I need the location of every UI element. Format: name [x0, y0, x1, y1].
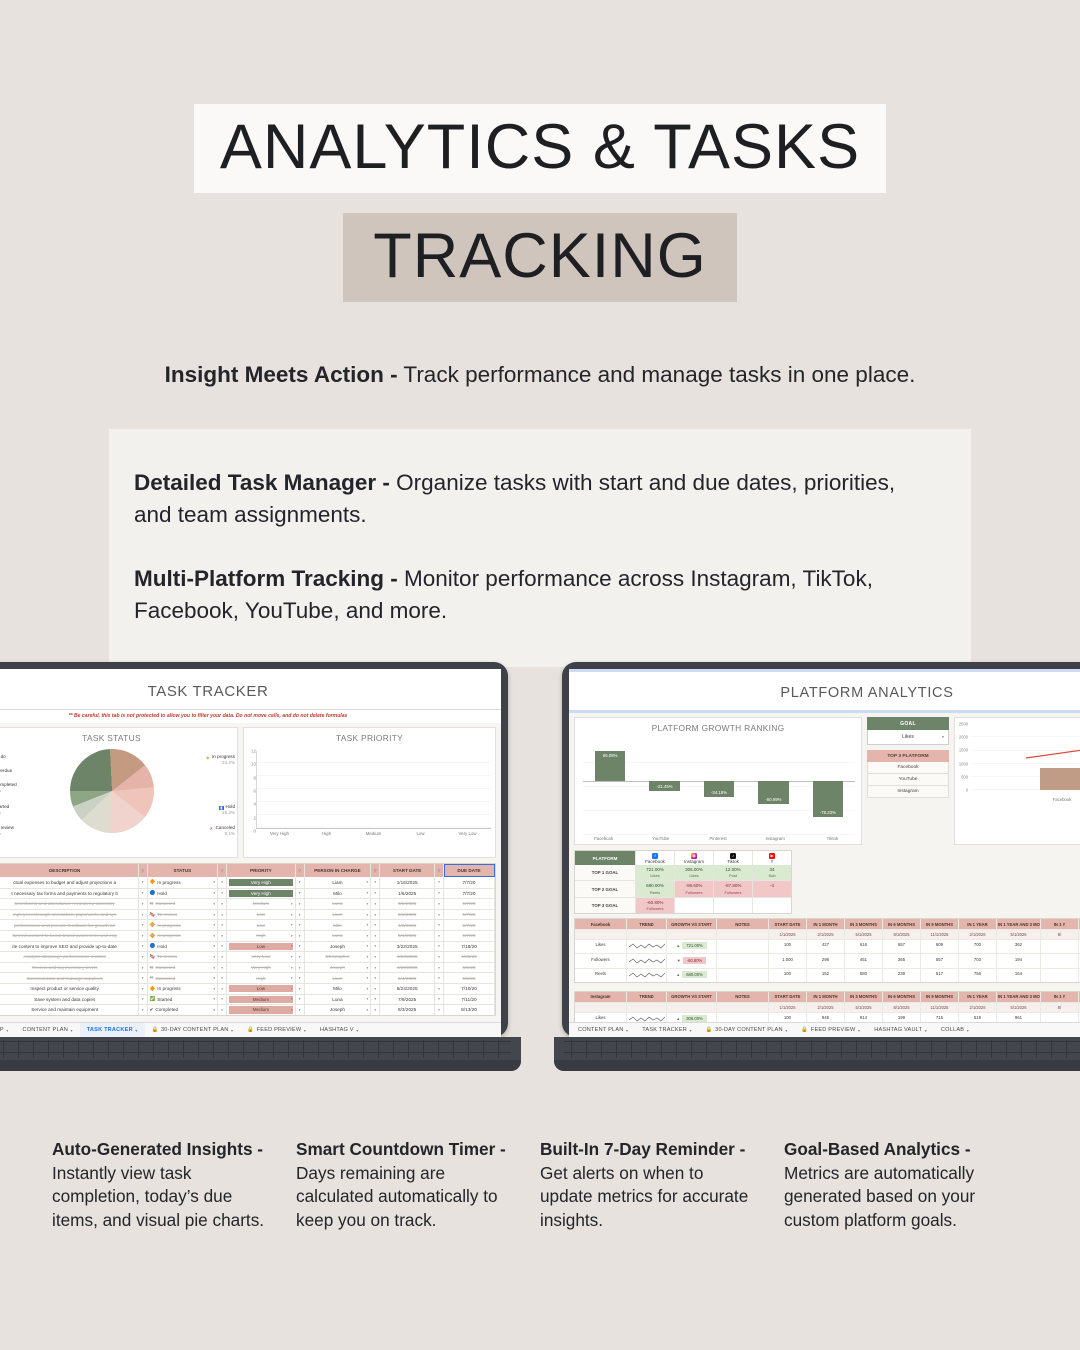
sheet-tab-task-tracker[interactable]: TASK TRACKER▾	[635, 1023, 699, 1037]
chevron-down-icon[interactable]: ▾	[435, 899, 444, 909]
chevron-down-icon[interactable]: ▾	[367, 976, 369, 980]
metric-value: 100	[769, 969, 807, 982]
table-row[interactable]: e-reviewsperformance and provide feedbac…	[0, 919, 495, 930]
bottom-feature-3: Built-In 7-Day Reminder - Get alerts on …	[540, 1138, 784, 1232]
chevron-down-icon[interactable]: ▾	[435, 984, 444, 994]
x-axis-labels: Facebook	[971, 797, 1080, 802]
chevron-down-icon[interactable]: ▾	[435, 910, 444, 920]
cell-due-date: 6/7/20	[444, 899, 495, 909]
cell-status[interactable]: ✖Canceled▾	[148, 973, 219, 983]
cell-person[interactable]: Joseph▾	[305, 963, 372, 973]
goal-selector: GOAL Likes ▾	[867, 717, 949, 745]
pie-legend-item: ⚑To do 6.1%	[0, 754, 6, 766]
matrix-cell: 680.00%Reels	[635, 881, 674, 896]
matrix-cell: 721.00%Likes	[635, 865, 674, 880]
chart-title: PLATFORM GROWTH RANKING	[575, 718, 861, 735]
sheet-tab-30-day-content-plan[interactable]: 🔒30-DAY CONTENT PLAN▾	[699, 1023, 795, 1037]
cell-priority[interactable]: Medium▾	[227, 995, 296, 1005]
trend-sparkline	[627, 1013, 667, 1022]
table-row[interactable]: rol checksInspect product or service qua…	[0, 983, 495, 994]
matrix-cell-sub: Post	[714, 873, 752, 878]
cell-due-date: 6/6/20	[444, 963, 495, 973]
chevron-down-icon[interactable]: ▾	[367, 902, 369, 906]
cell-priority[interactable]: Low▾	[227, 984, 296, 994]
cell-person[interactable]: Joseph▾	[305, 942, 372, 952]
sub-blank	[575, 1003, 627, 1012]
matrix-body: TOP 1 GOAL721.00%Likes306.00%Likes12.00%…	[575, 865, 791, 913]
bar-columns: 761253	[256, 751, 491, 829]
chevron-down-icon[interactable]: ▾	[291, 955, 293, 959]
x-tick: Facebook	[971, 797, 1080, 802]
chevron-down-icon[interactable]: ▾	[690, 1028, 692, 1033]
x-tick: Facebook	[575, 836, 632, 841]
cell-status[interactable]: ✅Started▾	[148, 995, 219, 1005]
sheet-body: COMPLETED: 14 OF 33 TODAY TASK	[0, 723, 501, 1022]
chevron-down-icon[interactable]: ▾	[213, 976, 215, 980]
period-date: 11/1/2025	[921, 1003, 959, 1012]
in-progress-icon: ◆	[206, 756, 211, 761]
status-icon: 🔵	[150, 943, 156, 949]
cell-person[interactable]: Liam▾	[305, 910, 372, 920]
chart-plot-area: 25002000150010005000 Facebook	[971, 724, 1080, 802]
cell-start-date: 6/4/2025	[380, 973, 435, 983]
chevron-down-icon[interactable]: ▾	[291, 976, 293, 980]
th-period: IN 1 YEAR	[959, 992, 997, 1001]
chevron-down-icon[interactable]: ▾	[858, 1028, 860, 1033]
chevron-down-icon[interactable]: ▾	[213, 902, 215, 906]
chevron-down-icon[interactable]: ▾	[6, 1028, 8, 1033]
chevron-down-icon[interactable]: ▾	[139, 952, 148, 962]
chevron-down-icon[interactable]: ▾	[139, 931, 148, 941]
cell-status[interactable]: ✔Completed▾	[148, 1005, 219, 1015]
notes-cell[interactable]	[717, 940, 769, 953]
chevron-down-icon[interactable]: ▾	[367, 966, 369, 970]
matrix-cell	[713, 898, 752, 913]
chevron-down-icon[interactable]: ▾	[435, 920, 444, 930]
chevron-down-icon[interactable]: ▾	[785, 1028, 787, 1033]
cell-status[interactable]: ✖Canceled▾	[148, 963, 219, 973]
th-status[interactable]: STATUS	[148, 864, 219, 877]
chevron-down-icon[interactable]: ▾	[291, 934, 293, 938]
chevron-down-icon[interactable]: ▾	[139, 920, 148, 930]
chevron-down-icon[interactable]: ▾	[218, 984, 227, 994]
chevron-down-icon[interactable]: ▾	[213, 934, 215, 938]
matrix-cell	[752, 898, 791, 913]
y-tick: 1000	[959, 761, 968, 766]
chevron-down-icon[interactable]: ▾	[213, 944, 215, 948]
chevron-down-icon[interactable]: ▾	[367, 923, 369, 927]
chevron-down-icon[interactable]: ▾	[367, 934, 369, 938]
chevron-down-icon[interactable]: ▾	[291, 966, 293, 970]
growth-vs-start: ▲680.00%	[667, 969, 717, 982]
chevron-down-icon[interactable]: ▾	[356, 1028, 358, 1033]
cell-status[interactable]: 🔶In progress▾	[148, 984, 219, 994]
cell-description: ctual expenses to budget and adjust proj…	[0, 877, 139, 888]
chevron-down-icon[interactable]: ▾	[218, 942, 227, 952]
chevron-down-icon[interactable]: ▾	[139, 973, 148, 983]
table-row[interactable]: nce-monitoringtimesheets and attendance …	[0, 898, 495, 909]
chevron-down-icon[interactable]: ▾	[967, 1028, 969, 1033]
sheet-tab-hashtag-v[interactable]: HASHTAG V▾	[313, 1023, 365, 1037]
metric-value: 152	[807, 969, 845, 982]
cell-person[interactable]: Christopher▾	[305, 952, 372, 962]
metric-value: 715	[921, 1013, 959, 1022]
chevron-down-icon[interactable]: ▾	[291, 944, 293, 948]
chevron-down-icon[interactable]: ▾	[435, 995, 444, 1005]
chevron-down-icon[interactable]: ▾	[296, 963, 305, 973]
cell-due-date: 7/7/20	[444, 877, 495, 888]
cell-person[interactable]: Luna▾	[305, 995, 372, 1005]
chevron-down-icon[interactable]: ▾	[213, 891, 215, 895]
platform-analytics-sheet: PLATFORM ANALYTICS ➢ PLATFORM GROWTH RAN…	[569, 669, 1080, 1037]
chevron-down-icon[interactable]: ▾	[367, 944, 369, 948]
chevron-down-icon[interactable]: ▾	[218, 931, 227, 941]
cell-status[interactable]: ✖Canceled▾	[148, 899, 219, 909]
sheet-tab-30-day-content-plan[interactable]: 🔒30-DAY CONTENT PLAN▾	[145, 1023, 241, 1037]
chevron-down-icon[interactable]: ▾	[218, 889, 227, 899]
chevron-down-icon[interactable]: ▾	[291, 987, 293, 991]
chevron-down-icon[interactable]: ▾	[296, 952, 305, 962]
chevron-down-icon[interactable]: ▾	[213, 913, 215, 917]
chevron-down-icon[interactable]: ▾	[367, 913, 369, 917]
matrix-cell-sub: Followers	[636, 906, 674, 911]
cell-status[interactable]: 🔖To review▾	[148, 952, 219, 962]
chart-title: TASK PRIORITY	[244, 728, 495, 745]
status-icon: ✖	[150, 901, 154, 907]
chevron-down-icon[interactable]: ▾	[296, 899, 305, 909]
cell-priority[interactable]: Low▾	[227, 942, 296, 952]
growth-badge: -60.80%	[683, 957, 707, 964]
cell-description: Review and log inventory levels	[0, 963, 139, 973]
sub-blank	[717, 1003, 769, 1012]
chevron-down-icon[interactable]: ▾	[371, 942, 380, 952]
cell-person[interactable]: Liam▾	[305, 973, 372, 983]
chevron-down-icon[interactable]: ▾	[435, 973, 444, 983]
cell-person[interactable]: Milo▾	[305, 984, 372, 994]
chevron-down-icon[interactable]: ▾	[371, 963, 380, 973]
goal-dropdown[interactable]: Likes ▾	[867, 730, 949, 745]
metric-value: 298	[807, 954, 845, 967]
th-description[interactable]: DESCRIPTION	[0, 864, 139, 877]
cell-priority[interactable]: Medium▾	[227, 1005, 296, 1015]
cell-person[interactable]: Luna▾	[305, 899, 372, 909]
cell-status[interactable]: 🔵Hold▾	[148, 889, 219, 899]
sheet-tab-hashtag-vault[interactable]: HASHTAG VAULT▾	[867, 1023, 934, 1037]
cell-priority[interactable]: High▾	[227, 973, 296, 983]
bar-value-label: 66.08%	[595, 753, 625, 758]
table-row[interactable]: & forecastingctual expenses to budget an…	[0, 877, 495, 888]
chevron-down-icon[interactable]: ▾	[296, 942, 305, 952]
chevron-down-icon[interactable]: ▾	[70, 1028, 72, 1033]
th-period: IN 1 MONTH	[807, 992, 845, 1001]
table-row[interactable]: a-postinglanned content to boost brand a…	[0, 930, 495, 941]
chevron-down-icon[interactable]: ▾	[296, 920, 305, 930]
filter-icon[interactable]: ▽	[296, 864, 305, 877]
table-row[interactable]: ordinationCommunicate and manage supplie…	[0, 972, 495, 983]
laptop-base	[0, 1037, 521, 1071]
table-row[interactable]: nboardingmployees through orientation, p…	[0, 909, 495, 920]
chevron-down-icon[interactable]: ▾	[218, 1005, 227, 1015]
chevron-down-icon[interactable]: ▾	[296, 995, 305, 1005]
chevron-down-icon[interactable]: ▾	[296, 931, 305, 941]
chevron-down-icon[interactable]: ▾	[367, 955, 369, 959]
tab-label: BRAIN DUMP	[0, 1027, 4, 1033]
chevron-down-icon[interactable]: ▾	[218, 973, 227, 983]
task-status-chart: TASK STATUS ⚑To do 6.1% –Overdue	[0, 727, 238, 858]
chevron-down-icon[interactable]: ▾	[218, 952, 227, 962]
table-header-row: E▽▽ DESCRIPTION ▽ STATUS ▽ PRIORITY ▽ PE…	[0, 864, 495, 877]
notes-cell[interactable]	[717, 954, 769, 967]
status-icon: ✅	[150, 996, 156, 1002]
table-row[interactable]: n backupsSave system and data copies▾✅St…	[0, 994, 495, 1005]
cell-priority[interactable]: Very High▾	[227, 889, 296, 899]
chevron-down-icon[interactable]: ▾	[371, 995, 380, 1005]
chevron-down-icon[interactable]: ▾	[291, 997, 293, 1001]
cell-status[interactable]: 🔖To review▾	[148, 910, 219, 920]
cell-priority[interactable]: Very Low▾	[227, 952, 296, 962]
chevron-down-icon[interactable]: ▾	[371, 984, 380, 994]
sparkline-icon	[629, 1015, 665, 1022]
lock-icon: 🔒	[801, 1027, 808, 1033]
tab-label: HASHTAG VAULT	[874, 1027, 922, 1033]
sheet-tab-collab[interactable]: COLLAB▾	[934, 1023, 976, 1037]
priority-badge: Very High	[229, 890, 293, 897]
chevron-down-icon[interactable]: ▾	[435, 952, 444, 962]
dashboard-row: COMPLETED: 14 OF 33 TODAY TASK	[0, 727, 496, 858]
sheet-tab-feed-preview[interactable]: 🔒FEED PREVIEW▾	[240, 1023, 313, 1037]
chevron-down-icon[interactable]: ▾	[367, 987, 369, 991]
metric-value: 199	[883, 1013, 921, 1022]
th-growth: GROWTH VS START	[667, 992, 717, 1001]
period-date: 2/1/2026	[959, 1003, 997, 1012]
chevron-down-icon[interactable]: ▾	[371, 952, 380, 962]
sheet-title: TASK TRACKER	[0, 669, 501, 709]
cell-status[interactable]: 🔶In progress▾	[148, 920, 219, 930]
chevron-down-icon[interactable]: ▾	[435, 1005, 444, 1015]
chevron-down-icon[interactable]: ▾	[435, 877, 444, 888]
cell-start-date: 1/16/2025	[380, 877, 435, 888]
filter-icon[interactable]: ▽	[139, 864, 148, 877]
matrix-cell	[674, 898, 713, 913]
sheet-tab-feed-preview[interactable]: 🔒FEED PREVIEW▾	[794, 1023, 867, 1037]
chart-plot-area: 66.08%-21.45%-34.18%-50.99%-78.23%	[583, 739, 855, 835]
cell-due-date: 7/7/20	[444, 889, 495, 899]
chevron-down-icon[interactable]: ▾	[291, 913, 293, 917]
chevron-down-icon[interactable]: ▾	[371, 910, 380, 920]
period-date: 2/1/2026	[959, 930, 997, 939]
cell-priority[interactable]: High▾	[227, 931, 296, 941]
cell-due-date: 7/11/20	[444, 995, 495, 1005]
chevron-down-icon[interactable]: ▾	[139, 984, 148, 994]
filter-icon[interactable]: ▽	[218, 864, 227, 877]
sheet-tab-content-plan[interactable]: CONTENT PLAN▾	[571, 1023, 635, 1037]
chevron-down-icon[interactable]: ▾	[296, 889, 305, 899]
chevron-down-icon[interactable]: ▾	[371, 931, 380, 941]
chevron-down-icon[interactable]: ▾	[231, 1028, 233, 1033]
metric-table-instagram: InstagramTRENDGROWTH VS STARTNOTESSTART …	[574, 991, 1080, 1022]
period-date: 11/1/2025	[921, 930, 959, 939]
priority-badge: Low	[229, 985, 293, 992]
cell-status[interactable]: 🔵Hold▾	[148, 942, 219, 952]
chevron-down-icon[interactable]: ▾	[296, 984, 305, 994]
feature-title: Auto-Generated Insights -	[52, 1139, 263, 1159]
chevron-down-icon[interactable]: ▾	[218, 910, 227, 920]
notes-cell[interactable]	[717, 969, 769, 982]
chevron-down-icon[interactable]: ▾	[304, 1028, 306, 1033]
chevron-down-icon[interactable]: ▾	[291, 902, 293, 906]
metric-value: 557	[921, 954, 959, 967]
chevron-down-icon[interactable]: ▾	[435, 963, 444, 973]
chevron-down-icon[interactable]: ▾	[218, 899, 227, 909]
chevron-down-icon[interactable]: ▾	[296, 973, 305, 983]
chevron-down-icon[interactable]: ▾	[139, 942, 148, 952]
chevron-down-icon[interactable]: ▾	[213, 1008, 215, 1012]
notes-cell[interactable]	[717, 1013, 769, 1022]
chevron-down-icon[interactable]: ▾	[371, 889, 380, 899]
metric-name: Likes	[575, 940, 627, 953]
chevron-down-icon[interactable]: ▾	[213, 997, 215, 1001]
filter-icon[interactable]: ▽	[371, 864, 380, 877]
cell-priority[interactable]: Very High▾	[227, 963, 296, 973]
table-row[interactable]: checksReview and log inventory levels▾✖C…	[0, 962, 495, 973]
growth-badge: 306.00%	[682, 1015, 707, 1022]
chevron-down-icon[interactable]: ▾	[367, 997, 369, 1001]
bar-value-label: -50.99%	[758, 797, 788, 802]
chevron-down-icon[interactable]: ▾	[139, 1005, 148, 1015]
metric-table-facebook: FacebookTRENDGROWTH VS STARTNOTESSTART D…	[574, 918, 1080, 983]
sheet-tab-brain-dump[interactable]: BRAIN DUMP▾	[0, 1023, 15, 1037]
cell-person[interactable]: Milo▾	[305, 920, 372, 930]
sheet-tab-task-tracker[interactable]: TASK TRACKER▾	[80, 1023, 145, 1037]
cell-priority[interactable]: Low▾	[227, 910, 296, 920]
th-start-date[interactable]: START DATE	[380, 864, 435, 877]
chevron-down-icon[interactable]: ▾	[371, 920, 380, 930]
cell-person[interactable]: Luna▾	[305, 931, 372, 941]
chevron-down-icon[interactable]: ▾	[296, 877, 305, 888]
cell-priority[interactable]: Low▾	[227, 920, 296, 930]
chevron-down-icon[interactable]: ▾	[435, 889, 444, 899]
chevron-down-icon[interactable]: ▾	[291, 1008, 293, 1012]
chevron-down-icon[interactable]: ▾	[626, 1028, 628, 1033]
table-header-row: FacebookTRENDGROWTH VS STARTNOTESSTART D…	[575, 919, 1080, 928]
chevron-down-icon[interactable]: ▾	[139, 899, 148, 909]
chevron-down-icon[interactable]: ▾	[435, 942, 444, 952]
chevron-down-icon[interactable]: ▾	[139, 910, 148, 920]
chevron-down-icon[interactable]: ▾	[291, 891, 293, 895]
chevron-down-icon[interactable]: ▾	[139, 889, 148, 899]
cell-person[interactable]: Liam▾	[305, 877, 372, 888]
chevron-down-icon[interactable]: ▾	[213, 966, 215, 970]
th-growth: GROWTH VS START	[667, 919, 717, 928]
metric-value: 1,000	[769, 954, 807, 967]
sheet-warning: ** Be careful, this tab is not protected…	[0, 709, 501, 723]
priority-badge: Very High	[229, 879, 293, 886]
chevron-down-icon[interactable]: ▾	[213, 955, 215, 959]
table-row[interactable]: lingt necessary tax forms and payments t…	[0, 888, 495, 899]
metric-value: 948	[807, 1013, 845, 1022]
th-due-date[interactable]: DUE DATE	[444, 864, 495, 877]
chevron-down-icon[interactable]: ▾	[218, 963, 227, 973]
period-date: 1/1/2025	[769, 930, 807, 939]
cell-status[interactable]: 🔶In progress▾	[148, 931, 219, 941]
cell-description: t necessary tax forms and payments to re…	[0, 889, 139, 899]
chevron-down-icon[interactable]: ▾	[218, 995, 227, 1005]
period-date: 2/1/2025	[807, 930, 845, 939]
subtitle-bold: Insight Meets Action -	[165, 362, 398, 387]
keyboard	[564, 1040, 1080, 1058]
period-date: 8/	[1041, 930, 1079, 939]
goal-header: GOAL	[867, 717, 949, 730]
cell-priority[interactable]: Medium▾	[227, 899, 296, 909]
hero-section: ANALYTICS & TASKS TRACKING Insight Meets…	[0, 0, 1080, 389]
metric-row[interactable]: Likes▲721.00%100427616657609700362	[575, 939, 1080, 953]
chevron-down-icon[interactable]: ▾	[213, 880, 215, 884]
priority-label: Very Low	[229, 953, 293, 960]
bar-value-label: -78.23%	[813, 810, 843, 815]
chevron-down-icon[interactable]: ▾	[367, 880, 369, 884]
table-row[interactable]: tics-reportingAnalyze campaign performan…	[0, 951, 495, 962]
chevron-down-icon[interactable]: ▾	[139, 995, 148, 1005]
th-period: IN 1 YEAR	[959, 919, 997, 928]
chevron-down-icon[interactable]: ▾	[218, 920, 227, 930]
sheet-tab-content-plan[interactable]: CONTENT PLAN▾	[15, 1023, 79, 1037]
metric-row[interactable]: Likes▲306.00%100948914199715519961	[575, 1012, 1080, 1022]
table-row[interactable]: g updatesite content to improve SEO and …	[0, 941, 495, 952]
platform-goal-matrix: PLATFORM f Facebook ◉ Instagram	[574, 850, 792, 914]
chevron-down-icon[interactable]: ▾	[371, 973, 380, 983]
matrix-cell: 34Sub	[752, 865, 791, 880]
bar-column: -78.23%	[801, 739, 855, 835]
chevron-down-icon[interactable]: ▾	[371, 1005, 380, 1015]
cell-status[interactable]: 🔶In progress▾	[148, 877, 219, 888]
chevron-down-icon[interactable]: ▾	[435, 931, 444, 941]
metric-value	[1041, 1013, 1079, 1022]
chevron-down-icon[interactable]: ▾	[296, 910, 305, 920]
metric-row[interactable]: Reels▲680.00%100152580238517756164	[575, 968, 1080, 982]
page-title-line1: ANALYTICS & TASKS	[194, 104, 886, 193]
chevron-down-icon[interactable]: ▾	[367, 1008, 369, 1012]
sub-blank	[667, 930, 717, 939]
chevron-down-icon[interactable]: ▾	[139, 963, 148, 973]
th-priority[interactable]: PRIORITY	[227, 864, 296, 877]
chevron-down-icon[interactable]: ▾	[291, 923, 293, 927]
cell-person[interactable]: Milo▾	[305, 889, 372, 899]
cell-start-date: 4/20/2025	[380, 963, 435, 973]
th-person[interactable]: PERSON IN CHARGE	[305, 864, 372, 877]
cell-person[interactable]: Joseph▾	[305, 1005, 372, 1015]
cell-due-date: 5/5/20	[444, 973, 495, 983]
th-period: IN 6 MONTHS	[883, 992, 921, 1001]
chevron-down-icon[interactable]: ▾	[135, 1028, 137, 1033]
chevron-down-icon[interactable]: ▾	[296, 1005, 305, 1015]
chevron-down-icon[interactable]: ▾	[291, 880, 293, 884]
laptop-showcase: TASK TRACKER ** Be careful, this tab is …	[0, 662, 1080, 1112]
chevron-down-icon[interactable]: ▾	[213, 987, 215, 991]
triangle-up-icon: ▲	[676, 1016, 680, 1021]
chevron-down-icon[interactable]: ▾	[371, 877, 380, 888]
chevron-down-icon[interactable]: ▾	[139, 877, 148, 888]
chevron-down-icon[interactable]: ▾	[367, 891, 369, 895]
table-row[interactable]: aintenanceService and maintain equipment…	[0, 1004, 495, 1015]
metric-row[interactable]: Followers▼-60.80%1,000298451365557703194	[575, 953, 1080, 967]
chevron-down-icon[interactable]: ▾	[925, 1028, 927, 1033]
chevron-down-icon[interactable]: ▾	[218, 877, 227, 888]
filter-icon[interactable]: ▽	[435, 864, 444, 877]
chevron-down-icon[interactable]: ▾	[213, 923, 215, 927]
table-header-row: InstagramTRENDGROWTH VS STARTNOTESSTART …	[575, 992, 1080, 1001]
chevron-down-icon[interactable]: ▾	[371, 899, 380, 909]
cell-priority[interactable]: Very High▾	[227, 877, 296, 888]
